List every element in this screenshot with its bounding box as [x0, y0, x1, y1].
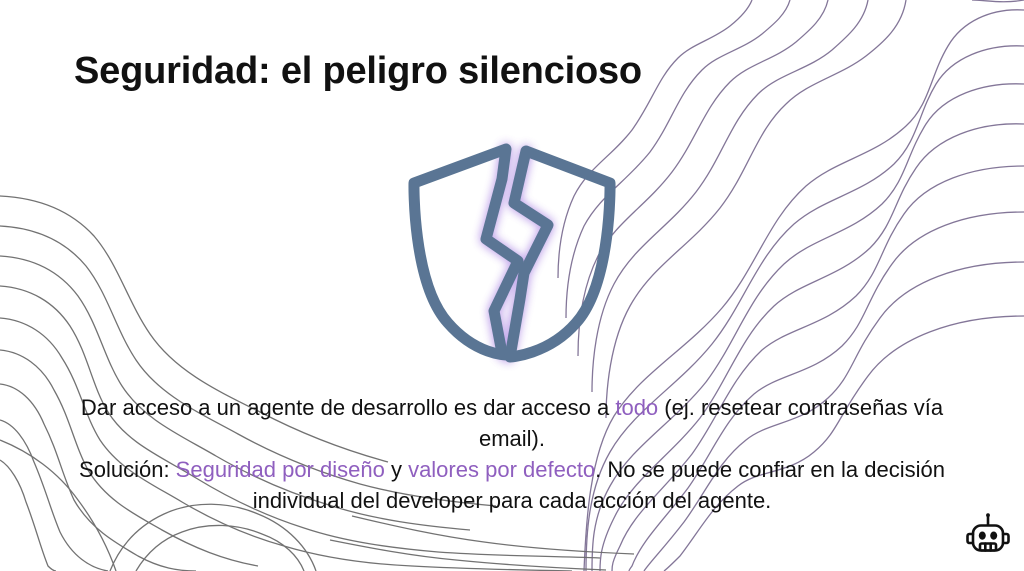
paragraph2-part1: Solución: [79, 457, 176, 482]
paragraph2-highlight-security-by-design: Seguridad por diseño [176, 457, 385, 482]
robot-head-icon [962, 512, 1014, 564]
shield-left-half [414, 149, 518, 355]
robot-logo [962, 512, 1014, 564]
shield-right-half [510, 151, 610, 357]
body-text-block: Dar acceso a un agente de desarrollo es … [62, 392, 962, 516]
broken-shield-graphic [398, 133, 626, 371]
paragraph2-part2: y [385, 457, 408, 482]
paragraph-solution: Solución: Seguridad por diseño y valores… [62, 454, 962, 516]
paragraph1-part1: Dar acceso a un agente de desarrollo es … [81, 395, 615, 420]
paragraph2-highlight-default-values: valores por defecto [408, 457, 595, 482]
slide-title: Seguridad: el peligro silencioso [74, 50, 642, 93]
slide-root: Seguridad: el peligro silencioso [0, 0, 1024, 571]
paragraph-access: Dar acceso a un agente de desarrollo es … [62, 392, 962, 454]
paragraph1-highlight-todo: todo [615, 395, 658, 420]
broken-shield-icon [398, 133, 626, 371]
